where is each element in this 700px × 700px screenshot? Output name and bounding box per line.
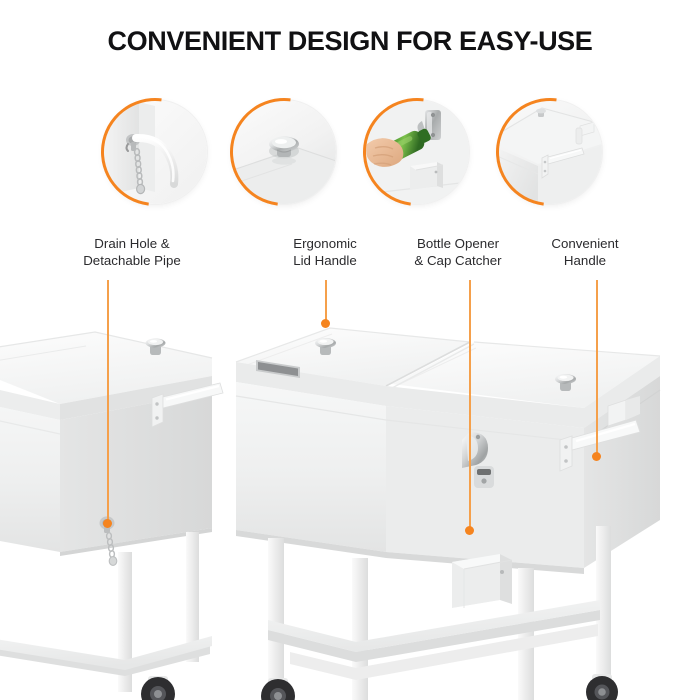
chrome-lid-knob-handle-photo	[232, 100, 336, 204]
leader-line-bottle-opener	[469, 280, 471, 530]
feature-circle-side-handle	[498, 100, 602, 204]
hand-opening-green-bottle-with-wall-opener-photo	[365, 100, 469, 204]
caption-side-handle: Convenient Handle	[495, 236, 675, 269]
circle-frame	[103, 100, 207, 204]
white-side-carry-handle-photo	[498, 100, 602, 204]
lower-shelf	[0, 630, 212, 670]
caption-line-1: Drain Hole &	[42, 236, 222, 253]
cart-leg	[518, 568, 534, 700]
leader-line-lid-handle	[325, 280, 327, 323]
caster-wheel	[141, 676, 175, 700]
circle-frame	[498, 100, 602, 204]
leader-dot-lid-handle	[321, 319, 330, 328]
caption-line-2: Detachable Pipe	[42, 253, 222, 270]
caption-line-1: Convenient	[495, 236, 675, 253]
circle-frame	[232, 100, 336, 204]
leader-dot-drain-hole	[103, 519, 112, 528]
drain-hole-with-chain-and-detachable-hose-photo	[103, 100, 207, 204]
feature-circle-bottle-opener	[365, 100, 469, 204]
leader-line-drain-hole	[107, 280, 109, 523]
product-scene	[0, 280, 700, 700]
caster-wheel	[586, 674, 618, 700]
cart-leg	[268, 538, 284, 690]
cap-catcher-box	[452, 554, 512, 608]
feature-circle-drain-hole	[103, 100, 207, 204]
circle-frame	[365, 100, 469, 204]
leader-dot-side-handle	[592, 452, 601, 461]
page-title: CONVENIENT DESIGN FOR EASY-USE	[0, 26, 700, 57]
caption-drain-hole: Drain Hole & Detachable Pipe	[42, 236, 222, 269]
infographic-canvas: CONVENIENT DESIGN FOR EASY-USE	[0, 0, 700, 700]
feature-circle-lid-handle	[232, 100, 336, 204]
caption-line-2: Handle	[495, 253, 675, 270]
cooler-cart-partial-left-view	[0, 332, 223, 700]
leader-dot-bottle-opener	[465, 526, 474, 535]
caster-wheel	[261, 678, 295, 700]
leader-line-side-handle	[596, 280, 598, 456]
